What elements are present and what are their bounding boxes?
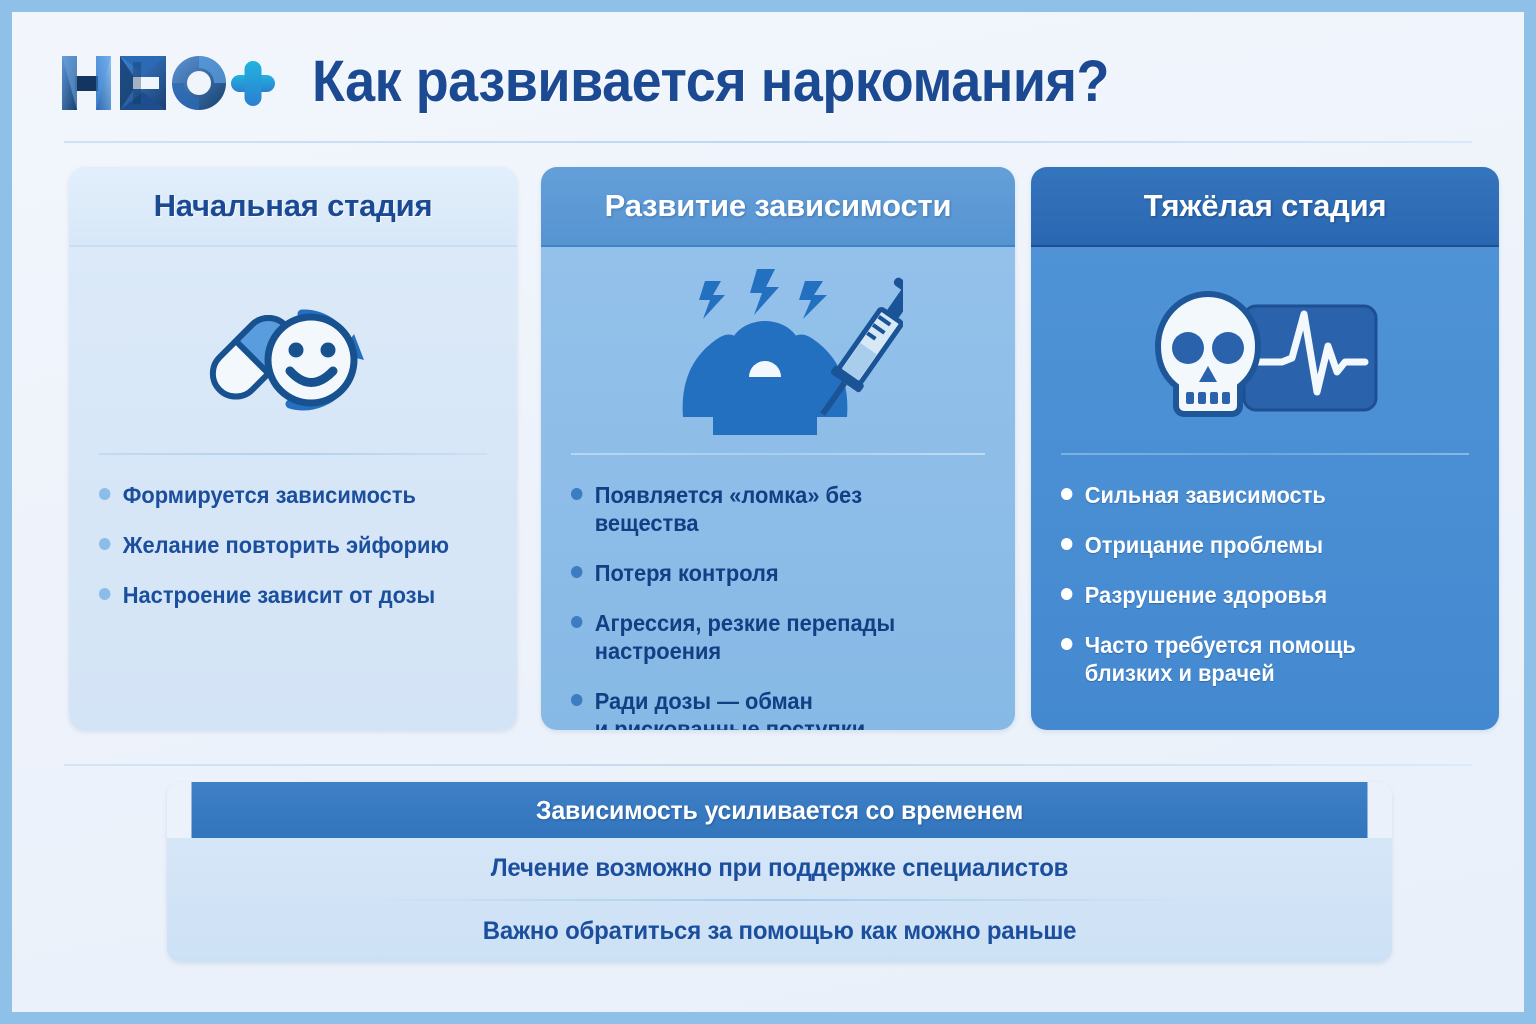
- bullet-text: Отрицание проблемы: [1085, 531, 1323, 559]
- bullet-dot-icon: [99, 538, 110, 550]
- skull-icon: [1158, 294, 1258, 414]
- bullet-text: Разрушение здоровья: [1085, 581, 1327, 609]
- bullet-text: Ради дозы — обман и рискованные поступки: [595, 687, 865, 730]
- brand-logo: [58, 48, 278, 118]
- logo-letter-n: [62, 56, 111, 110]
- bullet-text: Часто требуется помощь близких и врачей: [1085, 631, 1356, 687]
- bullet-text: Агрессия, резкие перепады настроения: [595, 609, 968, 665]
- list-item: Сильная зависимость: [1061, 481, 1452, 509]
- bullet-dot-icon: [1061, 588, 1072, 600]
- summary-banner: Зависимость усиливается со временем: [192, 782, 1368, 838]
- summary-panel: Зависимость усиливается со временем Лече…: [167, 782, 1392, 962]
- list-item: Настроение зависит от дозы: [99, 581, 471, 609]
- bullet-text: Появляется «ломка» без вещества: [595, 481, 968, 537]
- logo-letter-e: [120, 56, 166, 110]
- list-item: Появляется «ломка» без вещества: [571, 481, 968, 537]
- bullet-dot-icon: [571, 616, 582, 628]
- summary-line-early-help: Важно обратиться за помощью как можно ра…: [192, 901, 1368, 962]
- bullet-dot-icon: [571, 566, 582, 578]
- bullet-dot-icon: [571, 694, 582, 706]
- list-item: Формируется зависимость: [99, 481, 471, 509]
- bullet-dot-icon: [1061, 638, 1072, 650]
- header: Как развивается наркомания?: [12, 12, 1524, 142]
- bullet-dot-icon: [1061, 488, 1072, 500]
- bullet-text: Желание повторить эйфорию: [123, 531, 449, 559]
- bullet-list-severe: Сильная зависимость Отрицание проблемы Р…: [1031, 455, 1499, 687]
- bullet-dot-icon: [571, 488, 582, 500]
- list-item: Отрицание проблемы: [1061, 531, 1452, 559]
- card-body-initial: Формируется зависимость Желание повторит…: [69, 247, 517, 730]
- card-title-severe: Тяжёлая стадия: [1031, 167, 1499, 247]
- logo-plus-icon: [231, 61, 275, 106]
- bullet-text: Формируется зависимость: [123, 481, 416, 509]
- bullet-text: Настроение зависит от дозы: [123, 581, 435, 609]
- logo-letter-o: [172, 56, 226, 110]
- card-title-initial: Начальная стадия: [69, 167, 517, 247]
- card-body-development: Появляется «ломка» без вещества Потеря к…: [541, 247, 1015, 730]
- list-item: Ради дозы — обман и рискованные поступки: [571, 687, 968, 730]
- card-body-severe: Сильная зависимость Отрицание проблемы Р…: [1031, 247, 1499, 730]
- bullet-text: Сильная зависимость: [1085, 481, 1326, 509]
- bullet-dot-icon: [99, 588, 110, 600]
- summary-line-treatment: Лечение возможно при поддержке специалис…: [192, 838, 1368, 899]
- skull-ecg-monitor-icon: [1031, 247, 1499, 447]
- bullet-list-initial: Формируется зависимость Желание повторит…: [69, 455, 517, 609]
- bullet-dot-icon: [99, 488, 110, 500]
- bullet-dot-icon: [1061, 538, 1072, 550]
- bottom-divider: [64, 764, 1472, 766]
- infographic-frame: Как развивается наркомания? Начальная ст…: [12, 12, 1524, 1012]
- bullet-text: Потеря контроля: [595, 559, 779, 587]
- list-item: Разрушение здоровья: [1061, 581, 1452, 609]
- summary-body: Лечение возможно при поддержке специалис…: [167, 838, 1392, 962]
- page-title: Как развивается наркомания?: [312, 48, 1109, 115]
- stage-card-severe[interactable]: Тяжёлая стадия: [1031, 167, 1499, 730]
- stage-cards: Начальная стадия: [12, 167, 1524, 732]
- stage-card-development[interactable]: Развитие зависимости: [541, 167, 1015, 730]
- header-divider: [64, 141, 1472, 143]
- pill-smiley-cycle-icon: [69, 247, 517, 447]
- card-title-development: Развитие зависимости: [541, 167, 1015, 247]
- list-item: Желание повторить эйфорию: [99, 531, 471, 559]
- stage-card-initial[interactable]: Начальная стадия: [69, 167, 517, 730]
- headache-person-syringe-icon: [541, 247, 1015, 447]
- list-item: Потеря контроля: [571, 559, 968, 587]
- bullet-list-development: Появляется «ломка» без вещества Потеря к…: [541, 455, 1015, 730]
- list-item: Часто требуется помощь близких и врачей: [1061, 631, 1452, 687]
- list-item: Агрессия, резкие перепады настроения: [571, 609, 968, 665]
